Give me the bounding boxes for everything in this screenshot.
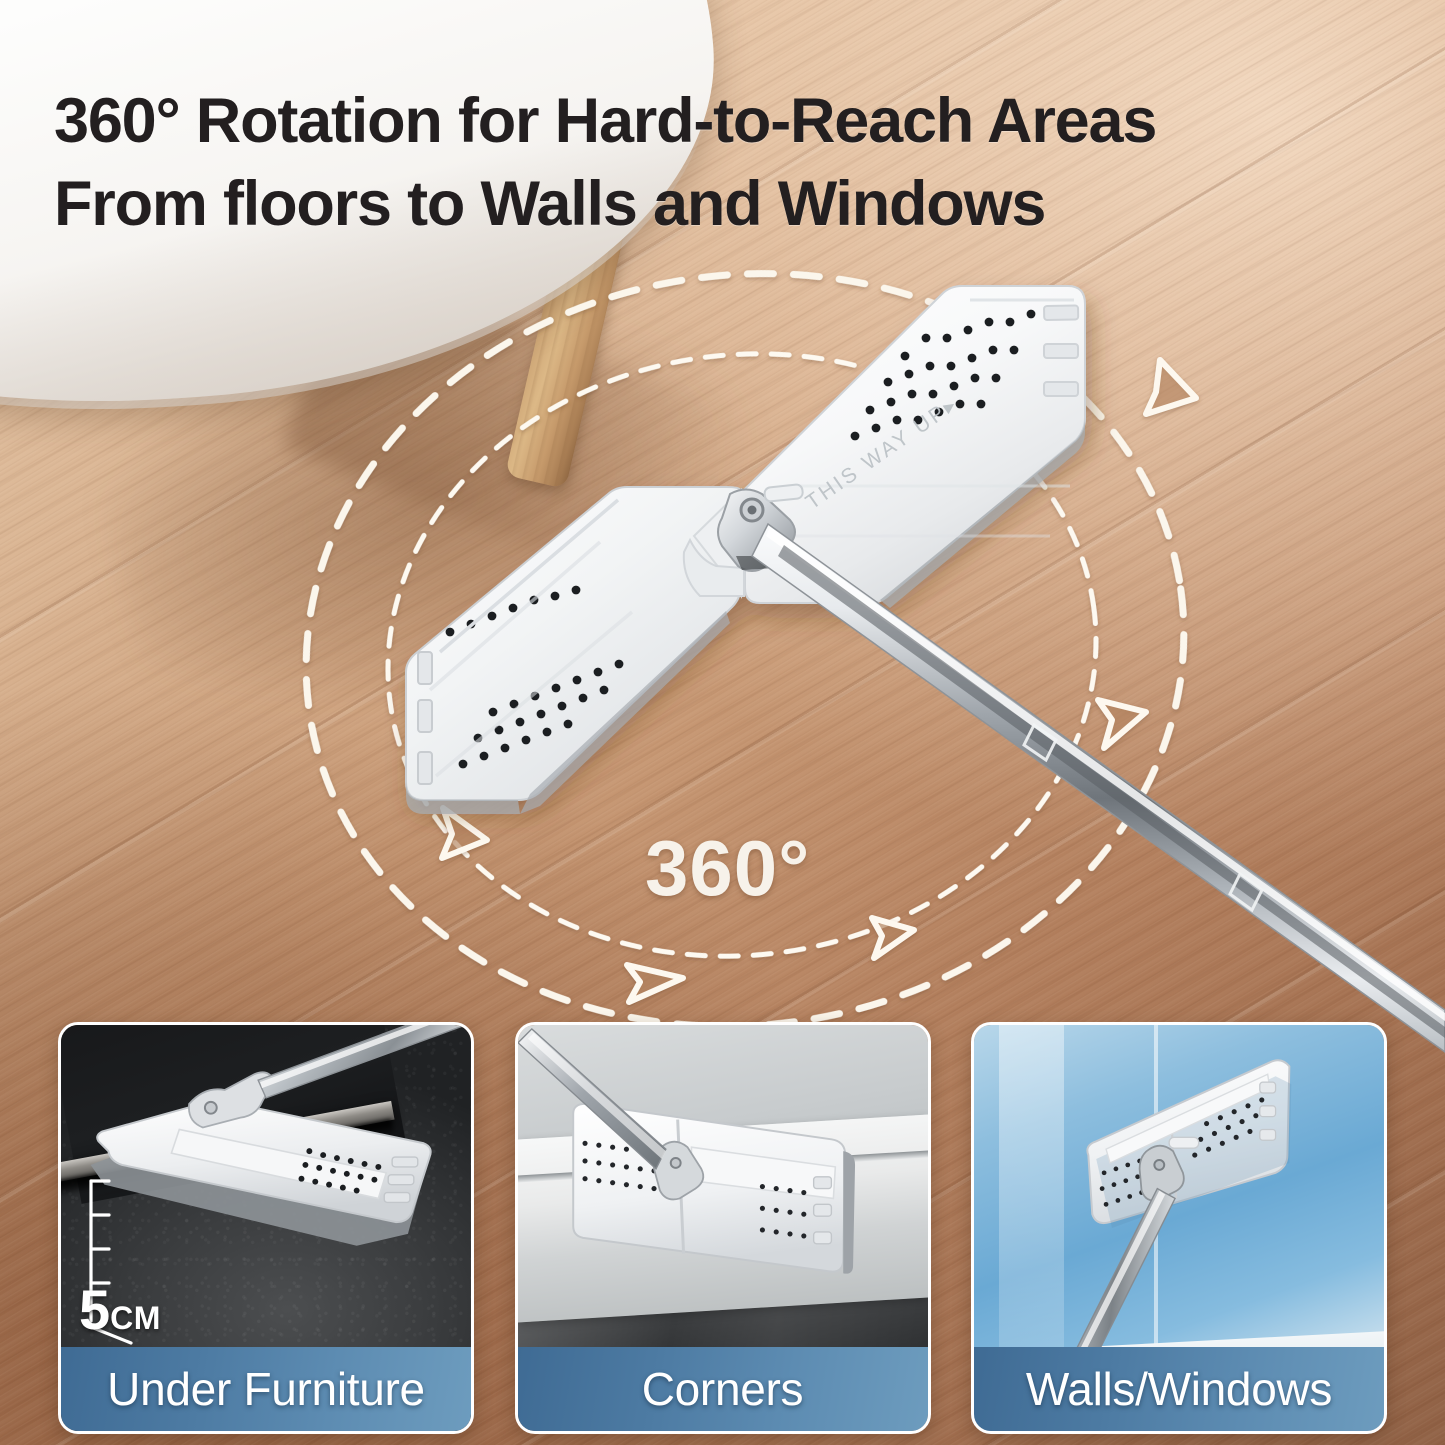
headline-line-2: From floors to Walls and Windows bbox=[54, 169, 1045, 239]
mop-pad-fabric-edge bbox=[843, 1151, 855, 1274]
headline: 360° Rotation for Hard-to-Reach Areas Fr… bbox=[54, 80, 1414, 246]
measurement-unit: CM bbox=[110, 1300, 161, 1336]
measurement-value: 5 bbox=[79, 1278, 110, 1341]
panel-label-corners: Corners bbox=[518, 1347, 928, 1431]
mop-head-pad-clips bbox=[813, 1177, 831, 1244]
rotation-degree-label: 360° bbox=[645, 823, 810, 914]
panel-label-under-furniture: Under Furniture bbox=[61, 1347, 471, 1431]
panel-label-walls-windows: Walls/Windows bbox=[974, 1347, 1384, 1431]
mop-handle bbox=[258, 1025, 471, 1098]
feature-panel-row: 5CM Under Furniture bbox=[0, 1022, 1445, 1445]
product-feature-image: THIS WAY UP▸ 360° Rotation for Hard-to-R… bbox=[0, 0, 1445, 1445]
feature-panel-under-furniture[interactable]: 5CM Under Furniture bbox=[58, 1022, 474, 1434]
feature-panel-corners[interactable]: Corners bbox=[515, 1022, 931, 1434]
feature-panel-walls-windows[interactable]: Walls/Windows bbox=[971, 1022, 1387, 1434]
mop-head-pad-clips bbox=[1260, 1082, 1276, 1140]
headline-line-1: 360° Rotation for Hard-to-Reach Areas bbox=[54, 86, 1156, 156]
measurement-label: 5CM bbox=[79, 1277, 161, 1342]
